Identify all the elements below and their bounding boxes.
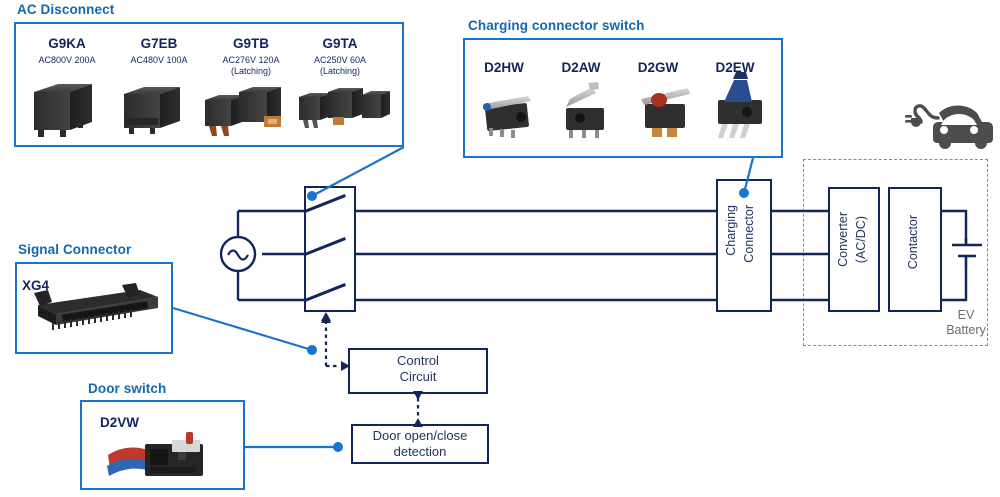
block-label-charging-connector-line2: Connector [742, 205, 760, 263]
block-label-control-circuit-line1: Control [348, 353, 488, 369]
battery-symbol [952, 238, 982, 268]
diagram-canvas: AC Disconnect Charging connector switch … [0, 0, 1000, 497]
ac-source-symbol [221, 237, 255, 271]
block-label-door-detection-line1: Door open/close [351, 428, 489, 444]
block-label-charging-connector-line1: Charging [724, 205, 742, 256]
block-label-converter-line1: Converter [836, 212, 854, 267]
block-label-contactor: Contactor [906, 215, 924, 269]
block-label-door-detection-line2: detection [351, 444, 489, 460]
block-ac-disconnect-switch[interactable] [304, 186, 356, 312]
block-label-control-circuit-line2: Circuit [348, 369, 488, 385]
block-label-converter-line2: (AC/DC) [854, 216, 872, 263]
